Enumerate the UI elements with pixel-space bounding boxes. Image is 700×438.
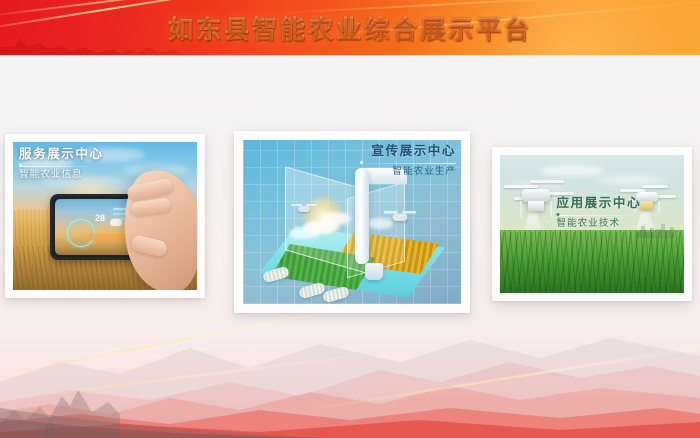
drone-rotor: [384, 211, 398, 214]
drone-rotor: [642, 185, 668, 188]
card-promotion-center[interactable]: 宣传展示中心 智能农业生产: [234, 131, 470, 313]
page-title: 如东县智能农业综合展示平台: [0, 0, 700, 55]
card-promotion-text-block: 宣传展示中心 智能农业生产: [360, 145, 456, 177]
card-application-text-block: 应用展示中心 智能农业技术: [556, 197, 641, 229]
drone-rotor: [291, 204, 302, 206]
city-skyline: [636, 222, 680, 238]
cloud: [321, 212, 351, 225]
header-banner: 如东县智能农业综合展示平台 如东县智能农业综合展示平台: [0, 0, 700, 55]
drone-large: [384, 209, 417, 224]
drone-small: [291, 202, 317, 214]
drone-leg: [658, 201, 660, 213]
card-promotion-subtitle: 智能农业生产: [360, 167, 456, 177]
card-service-text-block: 服务展示中心 智能农业信息: [19, 148, 104, 180]
card-service-subtitle: 智能农业信息: [19, 170, 104, 180]
card-service-center[interactable]: 28 服务展示中心 智能农业信息: [5, 134, 205, 298]
card-application-rule: [556, 215, 640, 216]
card-application-title: 应用展示中心: [556, 197, 641, 211]
card-service-rule: [19, 166, 97, 167]
drone-rotor: [403, 211, 417, 214]
cloud: [540, 165, 604, 176]
screen-root: 如东县智能农业综合展示平台 如东县智能农业综合展示平台 28: [0, 0, 700, 438]
drone-body: [393, 214, 408, 222]
drone-rotor: [530, 180, 564, 183]
temperature-readout: 28: [95, 213, 105, 223]
drone-leg: [550, 201, 552, 217]
drone-body: [298, 206, 310, 212]
drone-rotor: [504, 185, 538, 188]
drone-rotor: [306, 204, 317, 206]
cloud: [289, 228, 319, 239]
drone-tank: [528, 201, 544, 211]
drone-tank: [640, 201, 653, 209]
drone-leg: [520, 201, 522, 217]
card-application-subtitle: 智能农业技术: [556, 219, 641, 229]
crop-rows: [500, 232, 684, 293]
weather-cloud-icon: [110, 219, 122, 226]
card-promotion-title: 宣传展示中心: [360, 145, 456, 159]
card-application-center[interactable]: 应用展示中心 智能农业技术: [492, 147, 692, 301]
card-service-title: 服务展示中心: [19, 148, 104, 162]
arch-lamp-post: [355, 168, 369, 264]
water-bucket: [365, 263, 383, 280]
card-promotion-rule: [360, 163, 456, 164]
dark-sweep-band: [0, 396, 330, 438]
